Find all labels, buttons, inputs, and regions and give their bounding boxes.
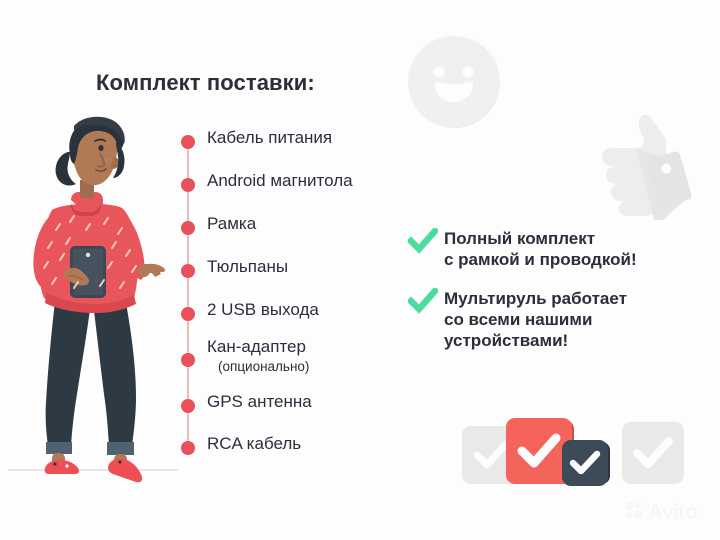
list-item-label: Android магнитола [207,171,353,190]
woman-pointing-illustration [8,112,178,510]
bullet-dot [181,264,195,278]
avito-logo-icon [624,500,644,525]
list-item-sublabel: (опционально) [218,359,309,374]
benefit-item: Мультируль работает со всеми нашими устр… [408,288,688,351]
checkbox-dark [562,440,608,486]
list-item-label: Кабель питания [207,128,332,147]
list-item-label: RCA кабель [207,434,301,453]
list-item-label: 2 USB выхода [207,300,319,319]
bullet-dot [181,353,195,367]
avito-watermark: Avito [624,500,697,525]
checkbox-cluster [462,418,642,484]
check-icon [408,288,438,316]
benefit-text: Мультируль работает со всеми нашими устр… [444,288,688,351]
bullet-dot [181,399,195,413]
avito-wordmark: Avito [648,502,697,523]
bullet-dot [181,441,195,455]
bullet-dot [181,178,195,192]
page-title: Комплект поставки: [96,70,315,96]
benefit-text: Полный комплект с рамкой и проводкой! [444,228,688,270]
benefits-list: Полный комплект с рамкой и проводкой! Му… [408,228,688,363]
poster-canvas: Комплект поставки: [0,0,720,540]
checkbox-grey-right [622,422,684,484]
list-item-label: Рамка [207,214,256,233]
benefit-item: Полный комплект с рамкой и проводкой! [408,228,688,270]
smiley-icon [404,32,504,132]
delivery-set-list: Кабель питания Android магнитола Рамка Т… [178,128,418,460]
check-icon [408,228,438,256]
bullet-dot [181,307,195,321]
bullet-dot [181,221,195,235]
thumbs-up-icon [578,108,698,220]
bullet-dot [181,135,195,149]
list-item-label: Тюльпаны [207,257,288,276]
list-item-label: Кан-адаптер [207,337,306,356]
list-item-label: GPS антенна [207,392,312,411]
